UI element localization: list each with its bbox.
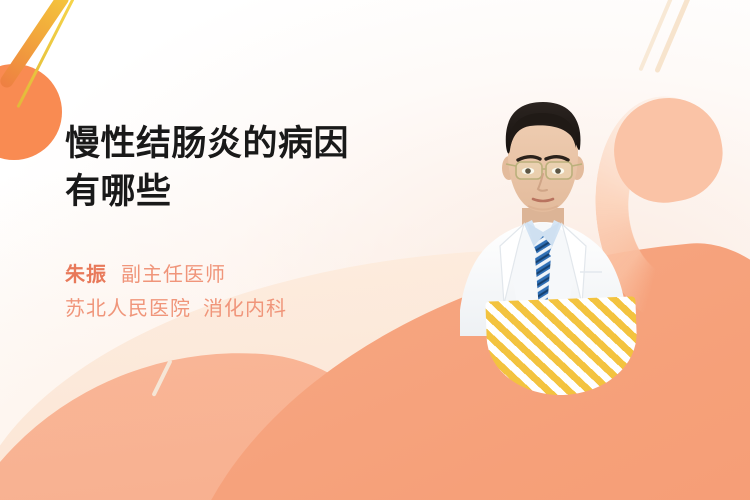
hospital-name: 苏北人民医院 [65,298,191,320]
salmon-wave-secondary [0,332,470,500]
page-title: 慢性结肠炎的病因 有哪些 [65,120,425,216]
diagonal-stroke-cream-a-icon [638,0,675,71]
doctor-name: 朱振 [65,264,107,286]
diagonal-stroke-orange-icon [0,0,71,90]
department-name: 消化内科 [203,298,287,320]
doctor-byline: 朱振副主任医师 [65,258,425,292]
diagonal-stroke-cream-b-icon [654,0,695,73]
diagonal-stroke-yellow-icon [16,0,74,108]
doctor-affiliation: 苏北人民医院消化内科 [65,292,425,326]
doctor-portrait [430,96,656,336]
orange-circle-decor [0,64,62,160]
medical-info-card: 慢性结肠炎的病因 有哪些 朱振副主任医师 苏北人民医院消化内科 [0,0,750,500]
text-block: 慢性结肠炎的病因 有哪些 朱振副主任医师 苏北人民医院消化内科 [65,120,425,326]
diagonal-stroke-cream-c-icon [151,359,172,397]
doctor-title: 副主任医师 [121,264,226,286]
